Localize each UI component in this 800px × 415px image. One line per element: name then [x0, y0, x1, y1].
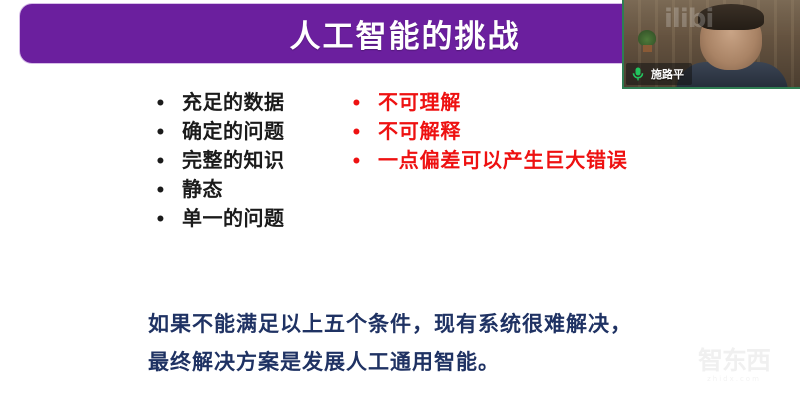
participant-name: 施路平 — [651, 66, 684, 82]
bullet-dot-icon: • — [155, 90, 182, 119]
list-item-label: 单一的问题 — [182, 204, 285, 233]
problems-bullet-list: • 不可理解 • 不可解释 • 一点偏差可以产生巨大错误 — [351, 88, 628, 175]
list-item-label: 静态 — [182, 175, 223, 204]
list-item-label: 充足的数据 — [182, 88, 285, 117]
list-item-label: 完整的知识 — [182, 146, 285, 175]
list-item: • 充足的数据 — [155, 88, 285, 117]
list-item: • 不可解释 — [351, 117, 628, 146]
participant-nameplate: 施路平 — [626, 63, 692, 85]
site-watermark-url: zhidx.com — [686, 374, 782, 384]
list-item: • 一点偏差可以产生巨大错误 — [351, 146, 628, 175]
bullet-dot-icon: • — [155, 177, 182, 206]
bullet-dot-icon: • — [155, 148, 182, 177]
list-item: • 单一的问题 — [155, 204, 285, 233]
video-participant-tile[interactable]: ilibi 施路平 — [622, 0, 800, 89]
list-item: • 确定的问题 — [155, 117, 285, 146]
list-item-label: 一点偏差可以产生巨大错误 — [378, 146, 628, 175]
bullet-dot-icon: • — [155, 206, 182, 235]
microphone-icon — [630, 66, 646, 82]
bullet-dot-icon: • — [351, 90, 378, 119]
bullet-dot-icon: • — [155, 119, 182, 148]
list-item: • 完整的知识 — [155, 146, 285, 175]
conclusion-line-1: 如果不能满足以上五个条件，现有系统很难解决， — [148, 305, 632, 343]
video-plant-decor — [638, 30, 656, 46]
video-plant-pot-decor — [643, 45, 652, 52]
conclusion-line-2: 最终解决方案是发展人工通用智能。 — [148, 343, 632, 381]
conclusion-text: 如果不能满足以上五个条件，现有系统很难解决， 最终解决方案是发展人工通用智能。 — [148, 305, 632, 381]
bullet-dot-icon: • — [351, 148, 378, 177]
site-watermark: 智东西 zhidx.com — [686, 348, 782, 384]
presentation-screen: 人工智能的挑战 • 充足的数据 • 确定的问题 • 完整的知识 • 静态 • 单… — [0, 0, 800, 415]
list-item: • 不可理解 — [351, 88, 628, 117]
list-item-label: 不可理解 — [378, 88, 461, 117]
conditions-bullet-list: • 充足的数据 • 确定的问题 • 完整的知识 • 静态 • 单一的问题 — [155, 88, 285, 233]
site-watermark-logo: 智东西 — [686, 348, 782, 374]
video-overlay-watermark: ilibi — [664, 4, 713, 34]
bullet-dot-icon: • — [351, 119, 378, 148]
list-item-label: 确定的问题 — [182, 117, 285, 146]
list-item-label: 不可解释 — [378, 117, 461, 146]
list-item: • 静态 — [155, 175, 285, 204]
